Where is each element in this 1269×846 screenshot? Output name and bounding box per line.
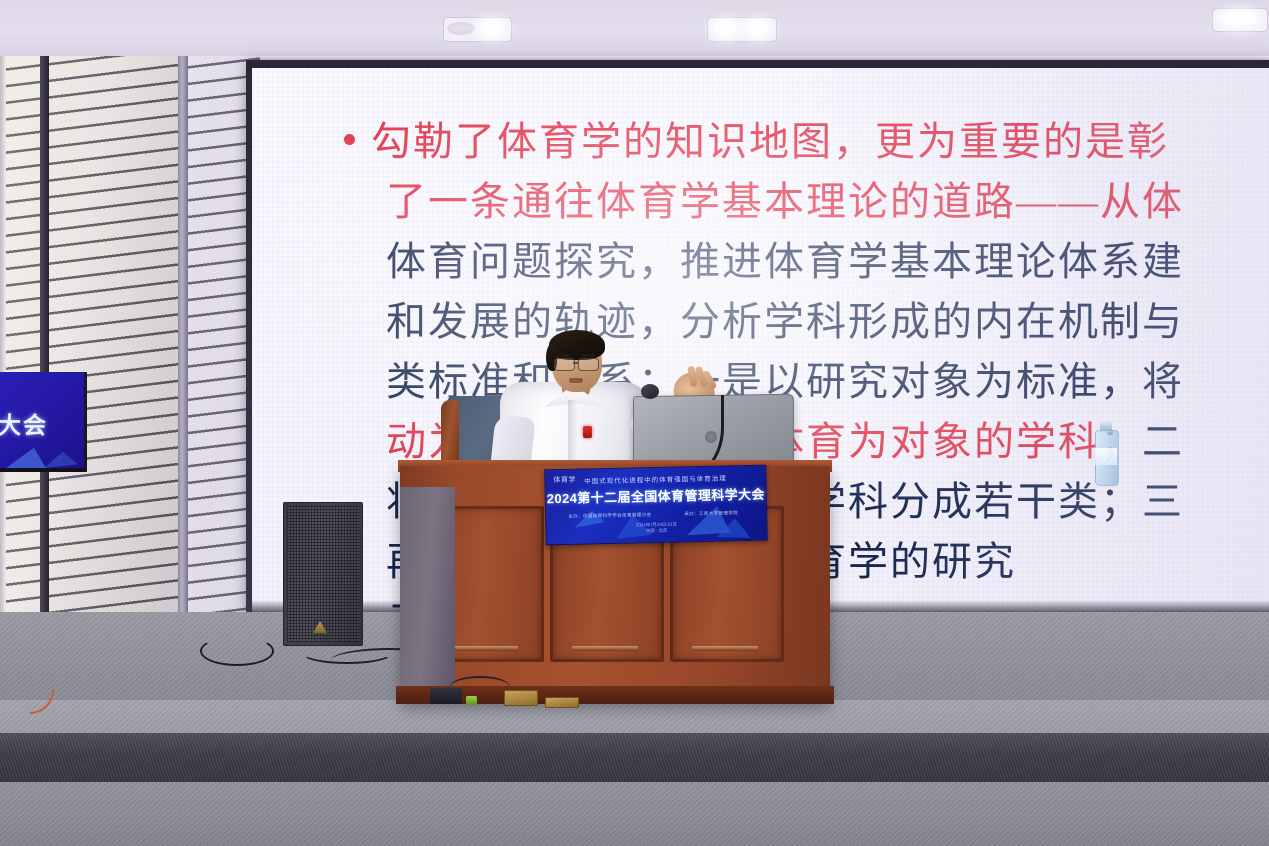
floor-cable-loop-1 — [200, 636, 274, 666]
presenter-eyebrow-right — [580, 354, 595, 357]
side-display-monitor: 大会 — [0, 372, 87, 472]
slide-line-3: 体育问题探究，推进体育学基本理论体系建 — [344, 232, 1269, 292]
podium-side-pedestal — [400, 487, 455, 702]
eyeglasses-lens-left — [554, 358, 575, 371]
eyeglasses-lens-right — [578, 358, 599, 371]
podium-vent-slot-left — [452, 646, 518, 651]
banner-organizer-right: 承办：工商大学管理学院 — [684, 510, 738, 517]
podium-vent-slot-center — [572, 646, 638, 651]
podium-banner: 体育学 中国式现代化进程中的体育强国与体育治理 2024第十二届全国体育管理科学… — [544, 465, 768, 546]
ceiling-light-bulb-2a — [712, 20, 739, 37]
slide-line-6-seg-3: 体育为对象的学科 — [764, 419, 1100, 464]
slide-bullet-icon — [344, 134, 355, 145]
riser-grain — [0, 733, 1269, 785]
side-monitor-text: 大会 — [0, 406, 84, 440]
floor-pa-speaker — [283, 502, 363, 646]
floor-plate-1 — [504, 690, 538, 706]
slide-line-3-text: 体育问题探究，推进体育学基本理论体系建 — [386, 239, 1184, 284]
banner-title: 2024第十二届全国体育管理科学大会 — [546, 484, 766, 508]
presenter-mouth — [569, 378, 583, 383]
carpet-grain-front — [0, 782, 1269, 846]
ceiling-light-bulb-dim — [447, 22, 475, 35]
presenter-lapel-pin — [583, 426, 592, 438]
ceiling-light-bulb-2b — [744, 20, 771, 37]
monitor-graphic-shard-2 — [44, 450, 78, 468]
wall-divider-column — [178, 56, 188, 704]
monitor-graphic-shard-1 — [6, 442, 46, 468]
slide-line-2-text: 了一条通往体育学基本理论的道路——从体 — [386, 179, 1184, 224]
conference-room-photo: 大会 勾勒了体育学的知识地图，更为重要的是彰 了一条通往体育学基本理论的道路——… — [0, 0, 1269, 846]
ceiling-light-bulb-1 — [478, 20, 506, 37]
podium-vent-slot-right — [692, 646, 758, 651]
presenter-eyebrow-left — [556, 354, 571, 357]
banner-organizer-left: 主办：中国体育科学学会体育管理分会 — [568, 512, 651, 520]
slide-line-2: 了一条通往体育学基本理论的道路——从体 — [344, 172, 1269, 232]
podium-cable-drop — [450, 676, 510, 698]
slide-line-1-text: 勾勒了体育学的知识地图，更为重要的是彰 — [371, 119, 1169, 164]
floor-plate-2 — [545, 697, 579, 708]
water-bottle-label — [1095, 448, 1117, 465]
microphone-head-icon — [641, 384, 659, 399]
pa-speaker-grille — [287, 506, 359, 642]
eyeglasses-bridge — [573, 362, 578, 364]
slide-line-1: 勾勒了体育学的知识地图，更为重要的是彰 — [344, 112, 1269, 172]
floor-foreground — [0, 782, 1269, 846]
stage-riser-edge — [0, 733, 1269, 785]
ceiling-light-bulb-3 — [1218, 11, 1260, 27]
